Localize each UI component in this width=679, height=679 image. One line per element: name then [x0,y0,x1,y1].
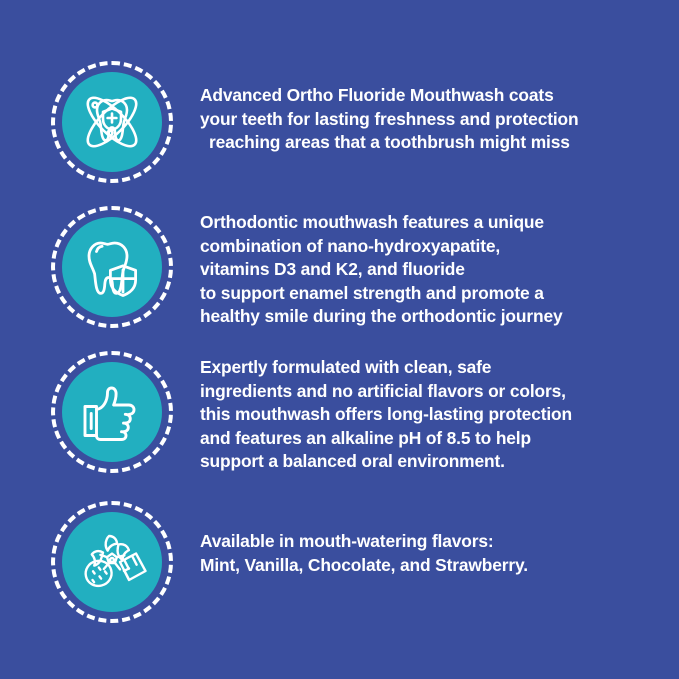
feature-text-line: Available in mouth-watering flavors: [200,530,663,554]
feature-text-line: combination of nano-hydroxyapatite, [200,235,663,259]
product-feature-infographic: Advanced Ortho Fluoride Mouthwash coats … [0,0,679,679]
feature-text-line: and features an alkaline pH of 8.5 to he… [200,427,663,451]
feature-item-advanced-fluoride: Advanced Ortho Fluoride Mouthwash coats … [0,61,679,183]
tooth-shield-atom-icon [73,83,151,161]
feature-text-line: reaching areas that a toothbrush might m… [200,131,663,155]
feature-badge [51,206,173,328]
flavors-icon [73,523,151,601]
feature-text-line: to support enamel strength and promote a [200,282,663,306]
thumbs-up-icon [73,373,151,451]
feature-item-clean-formula: Expertly formulated with clean, safe ing… [0,351,679,491]
feature-badge [51,61,173,183]
feature-list: Advanced Ortho Fluoride Mouthwash coats … [0,0,679,679]
tooth-shield-icon [73,228,151,306]
feature-badge [51,501,173,623]
feature-text-line: support a balanced oral environment. [200,450,663,474]
feature-badge [51,351,173,473]
feature-item-flavors: Available in mouth-watering flavors: Min… [0,501,679,623]
feature-text-line: Expertly formulated with clean, safe [200,356,663,380]
feature-text: Expertly formulated with clean, safe ing… [200,356,679,474]
feature-text-line: your teeth for lasting freshness and pro… [200,108,663,132]
feature-text-line: ingredients and no artificial flavors or… [200,380,663,404]
feature-text: Orthodontic mouthwash features a unique … [200,211,679,329]
feature-item-ingredients: Orthodontic mouthwash features a unique … [0,206,679,346]
feature-text-line: Advanced Ortho Fluoride Mouthwash coats [200,84,663,108]
feature-text-line: this mouthwash offers long-lasting prote… [200,403,663,427]
feature-text: Advanced Ortho Fluoride Mouthwash coats … [200,84,679,155]
feature-text-line: healthy smile during the orthodontic jou… [200,305,663,329]
feature-text-line: Mint, Vanilla, Chocolate, and Strawberry… [200,554,663,578]
feature-text: Available in mouth-watering flavors: Min… [200,530,679,577]
feature-text-line: vitamins D3 and K2, and fluoride [200,258,663,282]
feature-text-line: Orthodontic mouthwash features a unique [200,211,663,235]
